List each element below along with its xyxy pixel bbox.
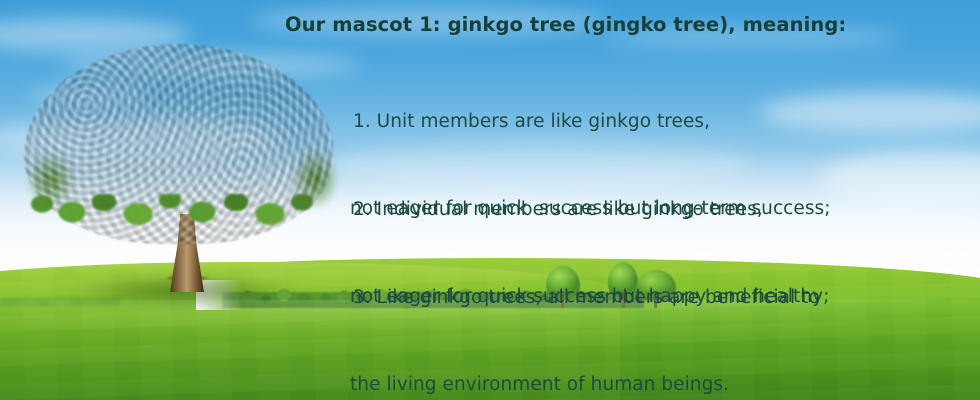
meaning-item-2-line-1: 2. Individual members are like ginkgo tr… (353, 195, 829, 224)
meaning-item-3-line-2: the living environment of human beings. (350, 370, 820, 399)
meaning-item-1-line-1: 1. Unit members are like ginkgo trees, (353, 107, 831, 136)
meaning-item-3-line-1: 3. Like ginkgo trees, all members are be… (353, 283, 820, 312)
meaning-item-3: 3. Like ginkgo trees, all members are be… (353, 225, 820, 400)
banner-headline: Our mascot 1: ginkgo tree (gingko tree),… (285, 13, 846, 36)
mascot-banner: Our mascot 1: ginkgo tree (gingko tree),… (0, 0, 980, 400)
text-overlay: Our mascot 1: ginkgo tree (gingko tree),… (0, 0, 980, 400)
